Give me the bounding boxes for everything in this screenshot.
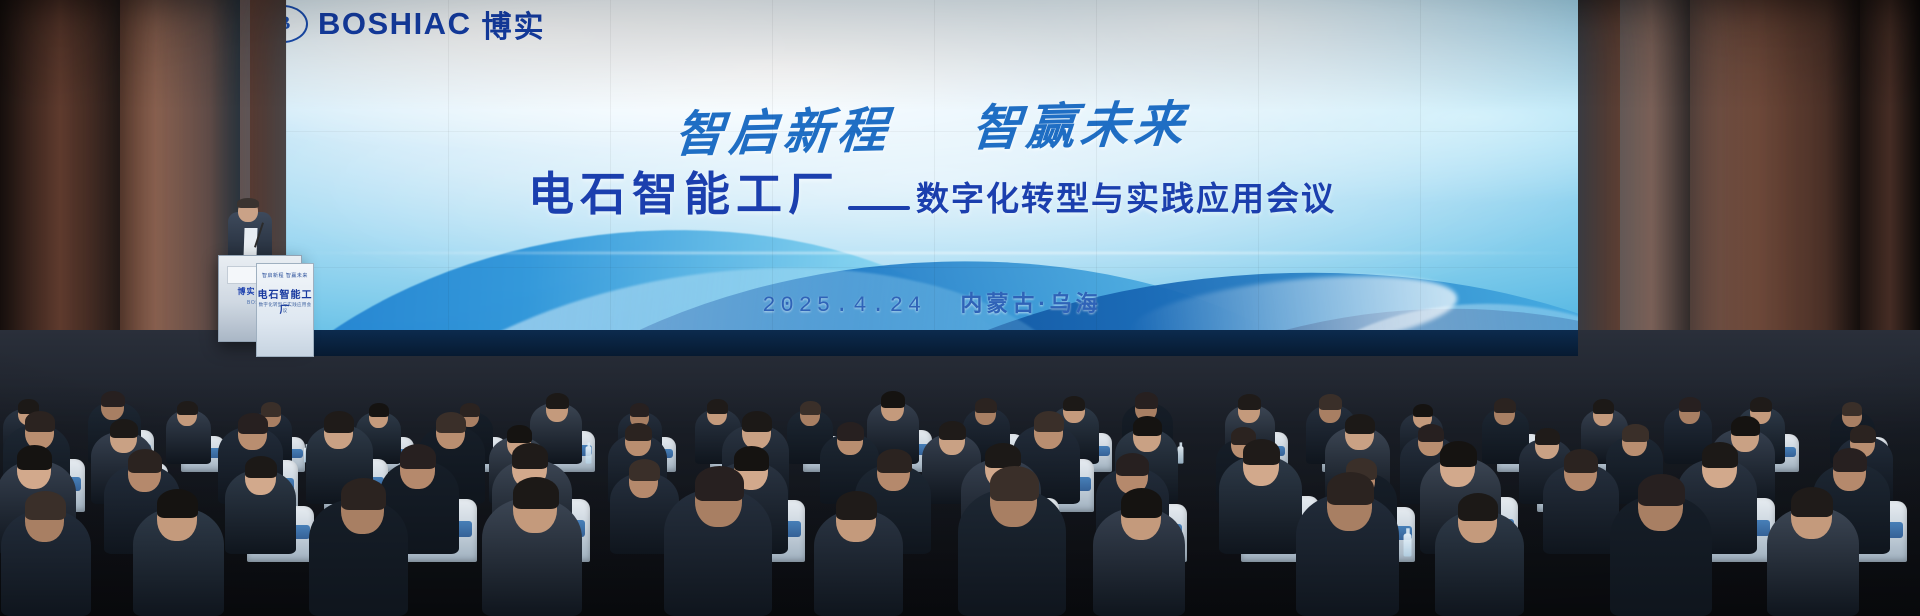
audience-hair [1791,487,1833,516]
audience-hair [630,403,650,417]
audience-hair [734,446,769,471]
audience-hair [507,425,533,443]
event-title-row: 电石智能工厂 数字化转型与实践应用会议 [286,158,1578,224]
brand-name-english: BOSHIAC [318,6,471,42]
audience-hair [975,398,997,413]
screen-horizon-line [286,252,1578,254]
brand-name-chinese: 博实 [481,2,545,46]
slogan-right: 智赢未来 [970,97,1191,157]
standee-sub-line: 数字化转型与实践应用会议 [257,302,313,314]
audience-hair [1319,394,1342,410]
audience-hair [1850,425,1876,443]
water-bottle [1404,534,1412,557]
audience-hair [1345,414,1374,435]
audience-hair [800,401,821,416]
audience-area [0,316,1920,616]
event-title-main: 电石智能工厂 [528,158,840,224]
audience-hair [695,466,744,500]
audience-hair [513,477,558,509]
audience-hair [101,391,125,408]
audience-hair [1121,488,1163,517]
audience-hair [1243,439,1281,465]
audience-hair [1458,493,1498,521]
audience-hair [1731,416,1760,436]
audience-hair [436,412,466,433]
speaker-hair [237,198,259,208]
audience-hair [324,411,354,432]
audience-hair [1833,448,1868,472]
audience-hair [17,445,53,470]
audience-hair [1638,474,1684,507]
audience-hair [707,399,728,414]
audience-hair [742,411,772,432]
event-date: 2025.4.24 [762,293,926,318]
audience-hair [939,421,966,440]
audience-hair [1564,449,1598,473]
audience-hair [1418,424,1444,442]
audience-hair [1494,398,1516,413]
audience-hair [1842,402,1862,416]
audience-hair [25,411,55,432]
audience-hair [881,391,905,408]
audience-hair [128,449,162,473]
audience-hair [369,403,389,417]
water-bottle [586,446,592,463]
audience-hair [985,443,1021,468]
standee-top-line: 智启新程 智赢未来 [257,272,313,279]
water-bottle [1177,446,1183,463]
audience-hair [177,401,198,415]
audience-hair [1135,392,1158,408]
audience-hair [1133,416,1162,436]
audience-hair [1750,397,1772,412]
audience-hair [1440,441,1477,467]
audience-hair [1593,399,1614,414]
audience-hair [1063,396,1085,412]
audience-hair [1034,411,1064,432]
audience-hair [245,456,277,479]
audience-hair [460,403,480,417]
boshiac-emblem-icon: B [286,5,308,43]
audience-hair [25,491,66,520]
audience-hair [1327,472,1374,505]
audience-hair [546,393,569,409]
audience-hair [1622,424,1648,442]
audience-hair [400,444,436,469]
audience-hair [157,489,198,518]
audience-hair [1535,428,1560,445]
event-place: 内蒙古·乌海 [960,291,1101,316]
event-datetime-line: 2025.4.24 内蒙古·乌海 [286,286,1578,318]
audience-hair [629,459,660,481]
audience-hair [261,402,281,416]
audience-hair [512,443,548,468]
audience-hair [990,466,1039,500]
audience-hair [877,449,911,473]
audience-hair [1238,394,1261,410]
audience-hair [341,478,386,510]
audience-hair [1702,442,1738,468]
conference-photo: B BOSHIAC 博实 智启新程 智赢未来 电石智能工厂 数字化转型与实践应用… [0,0,1920,616]
audience-hair [110,419,138,439]
event-title-sub: 数字化转型与实践应用会议 [916,172,1336,224]
audience-hair [625,423,652,442]
audience-hair [836,491,877,519]
audience-hair [1679,397,1701,412]
slogan-left: 智启新程 [673,103,894,163]
audience-hair [837,422,864,441]
audience-hair [1413,404,1433,418]
title-divider [848,206,910,210]
audience-hair [238,413,268,434]
audience-hair [1116,453,1149,476]
